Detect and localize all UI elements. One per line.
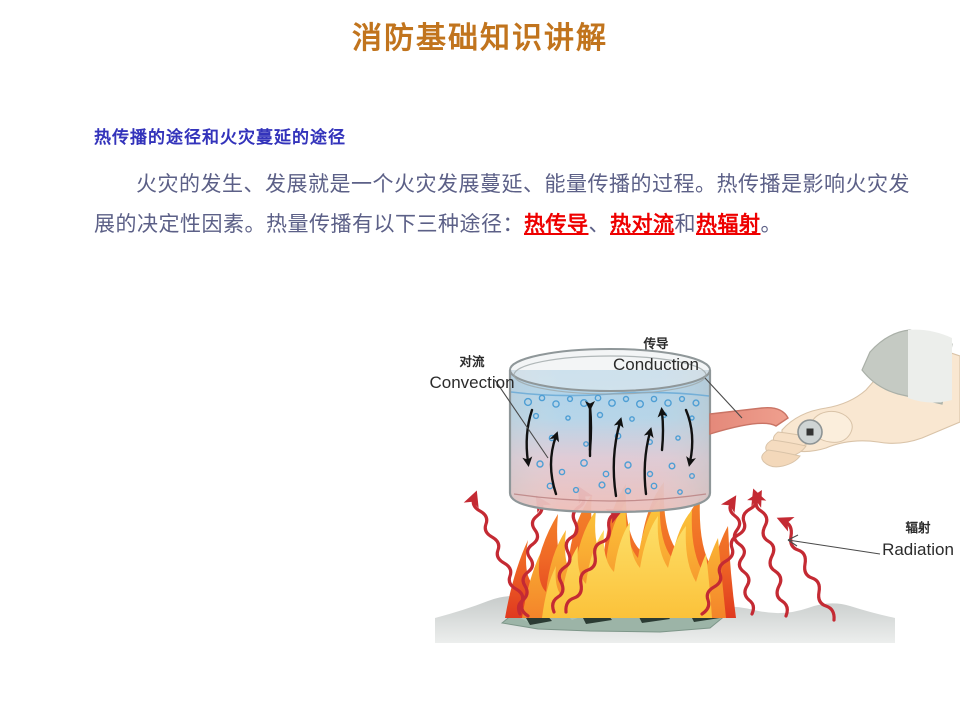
label-conduction-cn: 传导 xyxy=(642,336,669,351)
content-block: 热传播的途径和火灾蔓延的途径 火灾的发生、发展就是一个火灾发展蔓延、能量传播的过… xyxy=(94,126,914,245)
keyword-conduction: 热传导 xyxy=(524,212,589,236)
heat-transfer-illustration: 对流 Convection 传导 Conduction 辐射 Radiation xyxy=(410,318,960,668)
label-convection-en: Convection xyxy=(429,373,514,392)
keyword-convection: 热对流 xyxy=(610,212,675,236)
label-radiation-en: Radiation xyxy=(882,540,954,559)
label-conduction-en: Conduction xyxy=(613,355,699,374)
body-paragraph: 火灾的发生、发展就是一个火灾发展蔓延、能量传播的过程。热传播是影响火灾发展的决定… xyxy=(94,164,914,246)
paragraph-run-4: 和 xyxy=(675,212,697,236)
paragraph-run-2: 、 xyxy=(589,212,611,236)
paragraph-run-0: 火灾的发生、发展就是一个火灾发展蔓延、能量传播的过程。热传播是影响火灾发展的决定… xyxy=(94,172,910,237)
label-conduction: 传导 Conduction xyxy=(613,336,699,374)
paragraph-run-6: 。 xyxy=(761,212,783,236)
label-convection: 对流 Convection xyxy=(429,354,514,392)
page-title: 消防基础知识讲解 xyxy=(0,20,960,58)
hand-and-sleeve xyxy=(762,330,960,467)
label-convection-cn: 对流 xyxy=(459,354,485,369)
keyword-radiation: 热辐射 xyxy=(696,212,761,236)
section-subheading: 热传播的途径和火灾蔓延的途径 xyxy=(94,126,914,152)
label-radiation: 辐射 Radiation xyxy=(882,520,954,559)
label-radiation-cn: 辐射 xyxy=(905,520,931,535)
